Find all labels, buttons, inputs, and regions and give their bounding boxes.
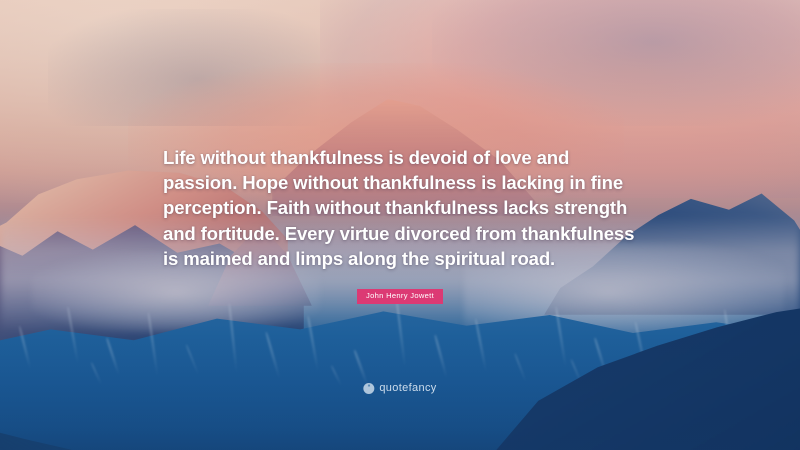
quote-line: and fortitude. Every virtue divorced fro…: [163, 221, 647, 246]
poster-content: Life without thankfulness is devoid of l…: [0, 0, 800, 450]
author-badge: John Henry Jowett: [357, 289, 443, 304]
quotefancy-watermark[interactable]: “ quotefancy: [363, 382, 436, 394]
quote-mark-icon: “: [363, 383, 374, 394]
quote-text-block: Life without thankfulness is devoid of l…: [163, 145, 647, 271]
quote-line: Life without thankfulness is devoid of l…: [163, 145, 647, 170]
quote-line: perception. Faith without thankfulness l…: [163, 195, 647, 220]
quote-line: passion. Hope without thankfulness is la…: [163, 170, 647, 195]
quote-line: is maimed and limps along the spiritual …: [163, 246, 647, 271]
quote-poster: Life without thankfulness is devoid of l…: [0, 0, 800, 450]
watermark-brand-label: quotefancy: [379, 382, 436, 394]
